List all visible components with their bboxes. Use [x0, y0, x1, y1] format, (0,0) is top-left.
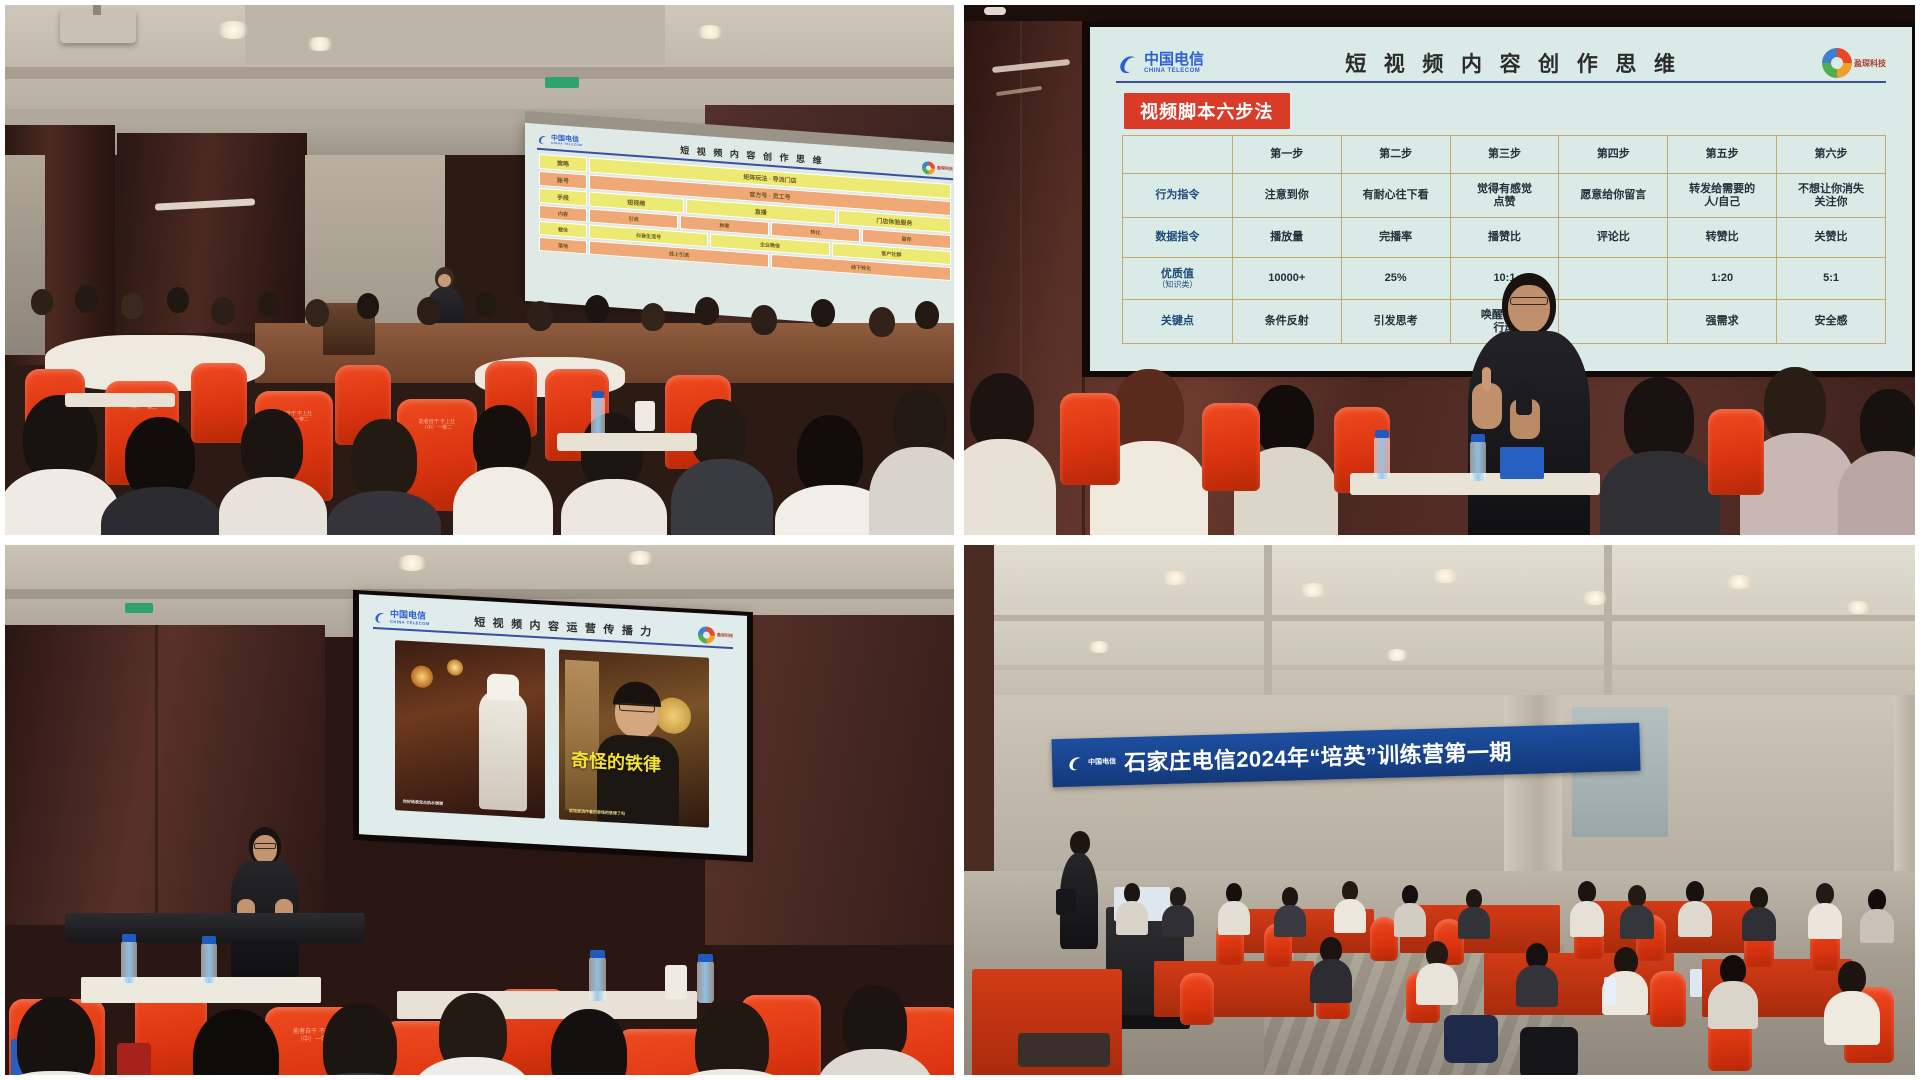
attendee-head	[193, 1009, 279, 1080]
bottle-cap	[592, 391, 604, 398]
partner-logo: 盈琛科技	[698, 626, 733, 645]
banner-logo: 中国电信	[1066, 751, 1117, 772]
wall-panel-seam	[155, 625, 158, 925]
china-telecom-logo: 中国电信 CHINA TELECOM	[537, 133, 582, 148]
attendee-head	[1170, 887, 1186, 907]
row-header-main: 优质值	[1161, 268, 1194, 280]
attendee-head	[1342, 881, 1358, 901]
table-cell: 引发思考	[1341, 300, 1450, 344]
paper-cup	[635, 401, 655, 431]
table-cell: 愿意给你留言	[1559, 174, 1668, 218]
speaker-face	[253, 835, 277, 863]
audience-head	[417, 297, 441, 325]
bottle-cap	[1471, 434, 1485, 442]
chair	[1708, 409, 1764, 495]
backpack	[1520, 1027, 1578, 1079]
speaker-face	[1508, 285, 1550, 333]
row-label: 策略	[539, 154, 587, 173]
attendee-body	[0, 1071, 119, 1080]
table-cell: 播赞比	[1450, 218, 1559, 258]
partner-logo-text: 盈琛科技	[937, 165, 953, 172]
brand-name-en: CHINA TELECOM	[551, 142, 582, 147]
column-header: 第三步	[1450, 136, 1559, 174]
ceiling-light	[1086, 641, 1112, 653]
row-header: 关键点	[1123, 300, 1233, 344]
slide-header: 中国电信 CHINA TELECOM 短 视 频 内 容 创 作 思 维 盈琛科…	[1116, 45, 1886, 83]
ceiling-beam	[5, 67, 954, 79]
attendee-head	[551, 1009, 627, 1080]
table-corner-cell	[1123, 136, 1233, 174]
table-cell: 觉得有感觉 点赞	[1450, 174, 1559, 218]
exit-sign	[125, 603, 153, 613]
water-bottle	[1470, 441, 1486, 481]
table-cell: 播放量	[1232, 218, 1341, 258]
table-cell: 不想让你消失 关注你	[1777, 174, 1886, 218]
row-header: 优质值 （知识类）	[1123, 258, 1233, 300]
audience-head	[31, 289, 53, 315]
attendee-body	[1458, 907, 1490, 939]
partner-logo-ring-icon	[1822, 48, 1852, 78]
attendee-body	[1860, 909, 1894, 943]
column-header: 第六步	[1777, 136, 1886, 174]
table-cell: 条件反射	[1232, 300, 1341, 344]
attendee-head	[1124, 883, 1140, 903]
speaker-glasses	[254, 843, 276, 849]
attendee-body	[817, 1049, 933, 1080]
wall-dark-left	[964, 545, 994, 875]
panel-bottom-left: 中国电信 CHINA TELECOM 短 视 频 内 容 运 营 传 播 力 盈…	[0, 540, 959, 1080]
audience-head	[915, 301, 939, 329]
attendee-head	[17, 997, 95, 1080]
audience-head	[641, 303, 665, 331]
table-row: 数据指令 播放量 完播率 播赞比 评论比 转赞比 关赞比	[1123, 218, 1886, 258]
attendee-head	[1628, 885, 1646, 907]
attendee-head	[323, 1003, 397, 1080]
bottle-cap	[1375, 430, 1389, 438]
chair	[1202, 403, 1260, 491]
audience-head	[258, 291, 280, 317]
ceiling-light	[1384, 649, 1410, 661]
attendee-body	[1218, 901, 1250, 935]
backpack	[1444, 1015, 1498, 1063]
partner-logo-text: 盈琛科技	[1854, 58, 1886, 69]
attendee-head	[1466, 889, 1482, 909]
lantern-glow	[447, 659, 463, 676]
audience-head	[357, 293, 379, 319]
panel-top-right: 中国电信 CHINA TELECOM 短 视 频 内 容 创 作 思 维 盈琛科…	[959, 0, 1920, 540]
attendee-body	[1600, 451, 1720, 540]
table-header-row: 第一步 第二步 第三步 第四步 第五步 第六步	[1123, 136, 1886, 174]
audience-head	[869, 307, 895, 337]
audience-row-back	[5, 283, 954, 353]
attendee-head	[1282, 887, 1298, 907]
column-header: 第二步	[1341, 136, 1450, 174]
table-surface	[65, 393, 175, 407]
audience-head	[811, 299, 835, 327]
desk-items	[5, 385, 954, 540]
row-label: 载体	[539, 221, 587, 239]
china-telecom-mark-icon	[537, 133, 549, 146]
column-header: 第五步	[1668, 136, 1777, 174]
attendee-head	[1838, 961, 1866, 995]
shelf	[565, 660, 599, 812]
partner-logo-ring-icon	[698, 626, 715, 644]
water-bottle	[591, 397, 605, 437]
slide-title: 短 视 频 内 容 运 营 传 播 力	[434, 611, 694, 642]
column-header: 第一步	[1232, 136, 1341, 174]
attendee-head	[1764, 367, 1826, 443]
attendee-body	[297, 1073, 423, 1080]
column-header: 第四步	[1559, 136, 1668, 174]
attendee-head	[1578, 881, 1596, 903]
lantern-glow	[411, 665, 433, 688]
attendee-head	[1624, 377, 1694, 461]
audience-head	[585, 295, 609, 323]
attendee-head	[1750, 887, 1768, 909]
attendee-head	[1256, 385, 1314, 455]
table-cell: 注意到你	[1232, 174, 1341, 218]
attendee-head	[1686, 881, 1704, 903]
ceiling-light	[984, 7, 1006, 15]
attendee-body	[1274, 905, 1306, 937]
ceiling-light	[1430, 569, 1460, 583]
ceiling-grid	[964, 665, 1915, 670]
table-surface	[557, 433, 697, 451]
audience-head	[305, 299, 329, 327]
attendee-body	[1516, 965, 1558, 1007]
partner-logo: 盈琛科技	[922, 160, 953, 175]
slide-title: 短 视 频 内 容 创 作 思 维	[1208, 48, 1818, 78]
attendee-body	[1808, 903, 1842, 939]
ceiling-light	[1724, 575, 1754, 589]
row-label: 手段	[539, 188, 587, 207]
attendee-body	[1742, 907, 1776, 941]
ceiling-light	[625, 551, 655, 565]
brand-name-en: CHINA TELECOM	[1144, 68, 1204, 74]
ceiling-panel	[245, 5, 665, 65]
table-cell: 有耐心往下看	[1341, 174, 1450, 218]
attendee-body	[1162, 905, 1194, 937]
row-label: 落地	[539, 237, 587, 255]
table-cell: 1:20	[1668, 258, 1777, 300]
attendee-head	[1226, 883, 1242, 903]
attendee-body	[1310, 959, 1352, 1003]
ceiling-light	[695, 25, 725, 39]
video-thumbnail-right: 奇怪的铁律 饭馆里流传着的奇怪的铁律了吗	[559, 649, 709, 827]
attendee-head	[1860, 389, 1918, 459]
attendee-body	[1416, 963, 1458, 1005]
audience-head	[527, 301, 553, 331]
video-thumbnail-left: 你好给我宝点热水谢谢	[395, 640, 545, 818]
row-label: 内容	[539, 205, 587, 223]
chair	[1060, 393, 1120, 485]
table-cell: 10000+	[1232, 258, 1341, 300]
water-bottle	[1690, 969, 1702, 997]
china-telecom-mark-icon	[1116, 50, 1142, 76]
china-telecom-mark-icon	[1066, 752, 1087, 773]
bottle-cap	[202, 936, 216, 944]
attendee-body	[1824, 991, 1880, 1045]
video-overlay-text: 奇怪的铁律	[571, 746, 661, 777]
row-header-sub: （知识类）	[1124, 280, 1231, 289]
partner-logo: 盈琛科技	[1822, 48, 1886, 78]
banner-logo-text: 中国电信	[1088, 756, 1116, 767]
audience-head	[751, 305, 777, 335]
foreground-attendees	[5, 945, 954, 1080]
attendee-head	[1402, 885, 1418, 905]
attendee-body	[1708, 981, 1758, 1029]
projection-screen: 中国电信 CHINA TELECOM 短 视 频 内 容 运 营 传 播 力 盈…	[359, 594, 747, 856]
chef-figure	[479, 689, 527, 812]
ceiling-light	[1160, 571, 1190, 585]
table-cell: 安全感	[1777, 300, 1886, 344]
row-header: 行为指令	[1123, 174, 1233, 218]
attendee-head	[1868, 889, 1886, 911]
ceiling-light	[395, 555, 429, 571]
table-row: 行为指令 注意到你 有耐心往下看 觉得有感觉 点赞 愿意给你留言 转发给需要的 …	[1123, 174, 1886, 218]
attendee-body	[1620, 905, 1654, 939]
attendee-body	[1838, 451, 1920, 540]
audience-head	[475, 291, 497, 317]
ceiling-light	[1298, 583, 1328, 597]
attendee-body	[413, 1057, 531, 1080]
water-bottle	[1604, 977, 1616, 1005]
attendee-body	[1678, 901, 1712, 937]
table-cell: 关赞比	[1777, 218, 1886, 258]
exit-sign	[545, 77, 579, 88]
china-telecom-logo: 中国电信 CHINA TELECOM	[373, 608, 430, 626]
attendee-body	[1116, 901, 1148, 935]
blue-folder	[1500, 447, 1544, 479]
bottle-cap	[122, 934, 136, 942]
table-cell: 评论比	[1559, 218, 1668, 258]
table-cell: 完播率	[1341, 218, 1450, 258]
attendee-head	[1816, 883, 1834, 905]
attendee-body	[959, 439, 1056, 540]
audience-head	[121, 293, 143, 319]
partner-logo-text: 盈琛科技	[717, 632, 733, 639]
audience-head	[167, 287, 189, 313]
row-label: 账号	[539, 171, 587, 190]
table-cell: 5:1	[1777, 258, 1886, 300]
attendee-body	[1570, 901, 1604, 937]
speaker-glasses	[1510, 297, 1548, 305]
attendee-body	[665, 1069, 797, 1080]
equipment-case	[1018, 1033, 1110, 1067]
brand-name-cn: 中国电信	[1144, 52, 1204, 68]
water-bottle	[1374, 437, 1390, 479]
ceiling-light	[215, 21, 251, 39]
panel-bottom-right: 中国电信 石家庄电信2024年“培英”训练营第一期	[959, 540, 1920, 1080]
presenter-head	[1070, 831, 1090, 855]
ceiling-light	[305, 37, 335, 51]
panel-top-left: 中国电信 CHINA TELECOM 短 视 频 内 容 创 作 思 维 盈琛科…	[0, 0, 959, 540]
brand-name-en: CHINA TELECOM	[390, 620, 430, 626]
table-cell: 转赞比	[1668, 218, 1777, 258]
table-cell: 强需求	[1668, 300, 1777, 344]
audience-head	[695, 297, 719, 325]
banner-title: 石家庄电信2024年“培英”训练营第一期	[1124, 734, 1512, 777]
photo-collage: 中国电信 CHINA TELECOM 短 视 频 内 容 创 作 思 维 盈琛科…	[0, 0, 1920, 1080]
audience-head	[75, 285, 99, 313]
china-telecom-logo: 中国电信 CHINA TELECOM	[1116, 50, 1204, 76]
ceiling-light	[1844, 601, 1872, 614]
projector-mount	[93, 5, 101, 15]
row-header: 数据指令	[1123, 218, 1233, 258]
video-caption: 你好给我宝点热水谢谢	[403, 799, 443, 807]
audience-head	[211, 297, 235, 325]
partner-logo-ring-icon	[922, 160, 935, 174]
china-telecom-mark-icon	[373, 608, 388, 624]
ceiling-light	[1580, 591, 1610, 605]
table-cell: 转发给需要的 人/自己	[1668, 174, 1777, 218]
ceiling-grid	[964, 615, 1915, 621]
table-cell: 25%	[1341, 258, 1450, 300]
section-chip: 视频脚本六步法	[1124, 93, 1290, 129]
ceiling-strip	[964, 5, 1915, 21]
attendee-body	[1334, 899, 1366, 933]
chef-hat	[487, 673, 519, 701]
attendee-body	[1394, 903, 1426, 937]
audience-foreground	[964, 363, 1915, 540]
